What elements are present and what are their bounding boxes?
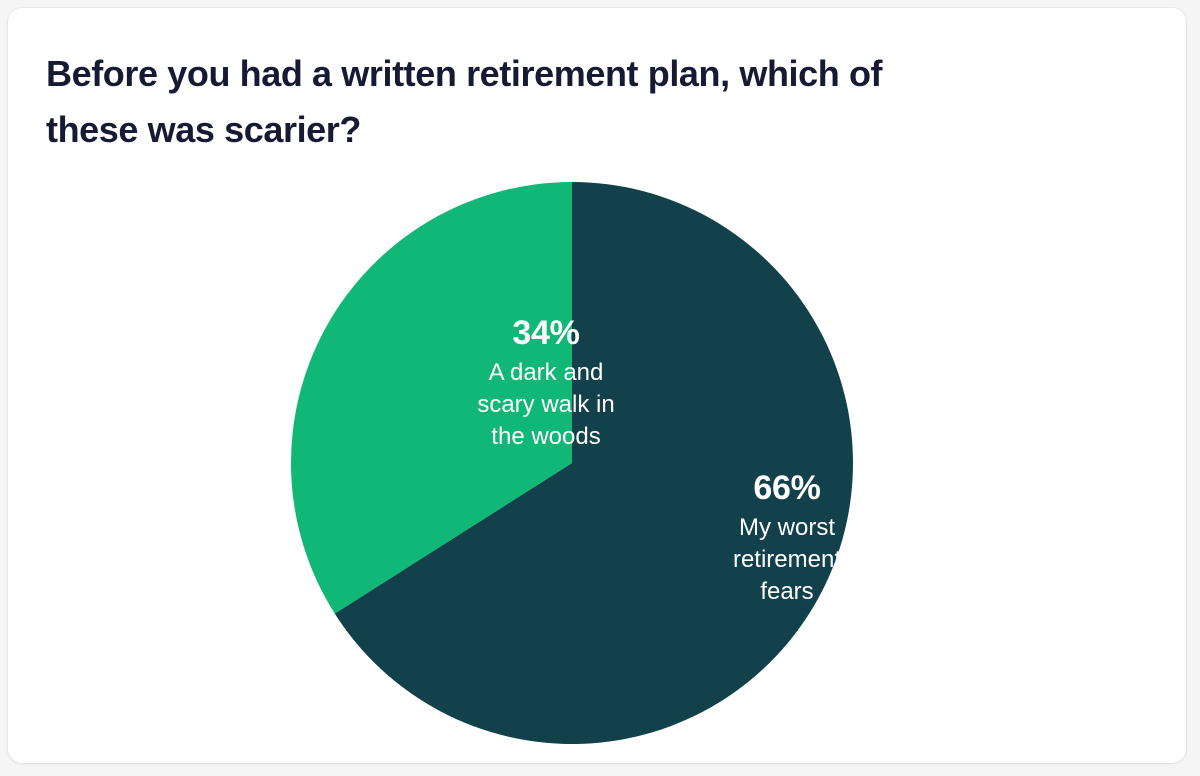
page-title: Before you had a written retirement plan… xyxy=(46,46,906,158)
chart-card: Before you had a written retirement plan… xyxy=(8,8,1186,763)
pie-chart: 34% A dark and scary walk in the woods 6… xyxy=(289,180,855,746)
pie-chart-svg xyxy=(289,180,855,746)
